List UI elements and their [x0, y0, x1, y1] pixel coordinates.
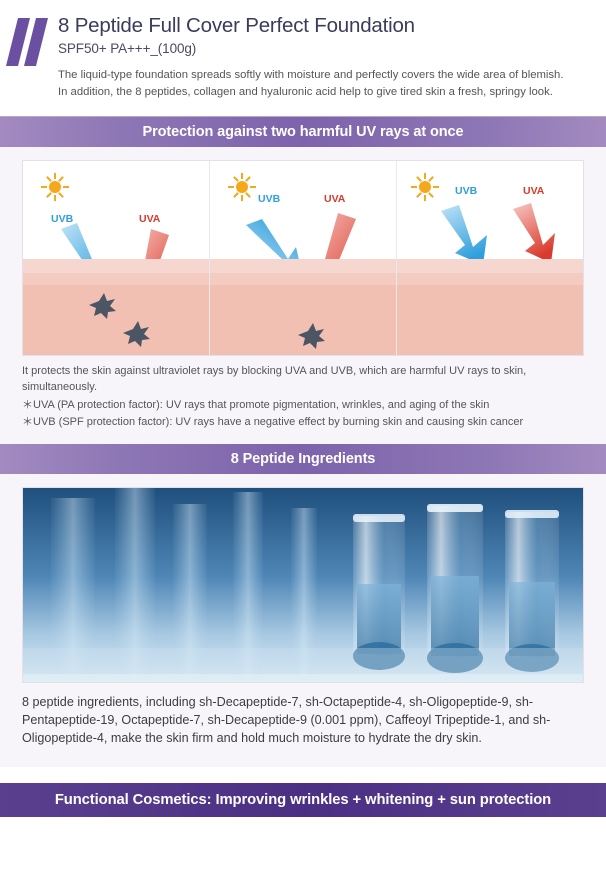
blemish-1 [89, 293, 116, 319]
uv-panel-2: UVB UVA [209, 161, 396, 355]
uv-figure-wrap: UVB UVA [0, 147, 606, 356]
uv-note-uvb: ＊UVB (SPF protection factor): UV rays ha… [22, 414, 584, 431]
uv-figure: UVB UVA [22, 160, 584, 356]
page-title: 8 Peptide Full Cover Perfect Foundation [58, 14, 584, 38]
uv-note-uva: ＊UVA (PA protection factor): UV rays tha… [22, 397, 584, 414]
intro-paragraph: The liquid-type foundation spreads softl… [58, 67, 584, 102]
uv-panel-1: UVB UVA [23, 161, 209, 355]
blemish-2 [123, 321, 150, 347]
lab-test-tubes-photo [22, 487, 584, 683]
ingredients-photo-wrap [0, 474, 606, 683]
double-slash-logo-icon [0, 14, 58, 102]
uv-panel-3: UVB UVA [396, 161, 583, 355]
uv-caption-block: It protects the skin against ultraviolet… [0, 356, 606, 431]
product-detail-page: 8 Peptide Full Cover Perfect Foundation … [0, 0, 606, 879]
page-subtitle: SPF50+ PA+++_(100g) [58, 41, 584, 56]
blemish-3 [298, 323, 325, 349]
uv-bottom-spacer [0, 431, 606, 444]
uv-caption-text: It protects the skin against ultraviolet… [22, 363, 584, 396]
footer-banner: Functional Cosmetics: Improving wrinkles… [0, 783, 606, 817]
ingredients-text: 8 peptide ingredients, including sh-Deca… [0, 683, 606, 748]
footer-gap [0, 767, 606, 783]
page-header: 8 Peptide Full Cover Perfect Foundation … [0, 0, 606, 102]
ingredients-bottom-spacer [0, 747, 606, 767]
header-text-block: 8 Peptide Full Cover Perfect Foundation … [58, 14, 606, 102]
skin-layers-3 [397, 259, 583, 355]
uv-section-banner: Protection against two harmful UV rays a… [0, 117, 606, 147]
ingredients-section-banner: 8 Peptide Ingredients [0, 444, 606, 474]
